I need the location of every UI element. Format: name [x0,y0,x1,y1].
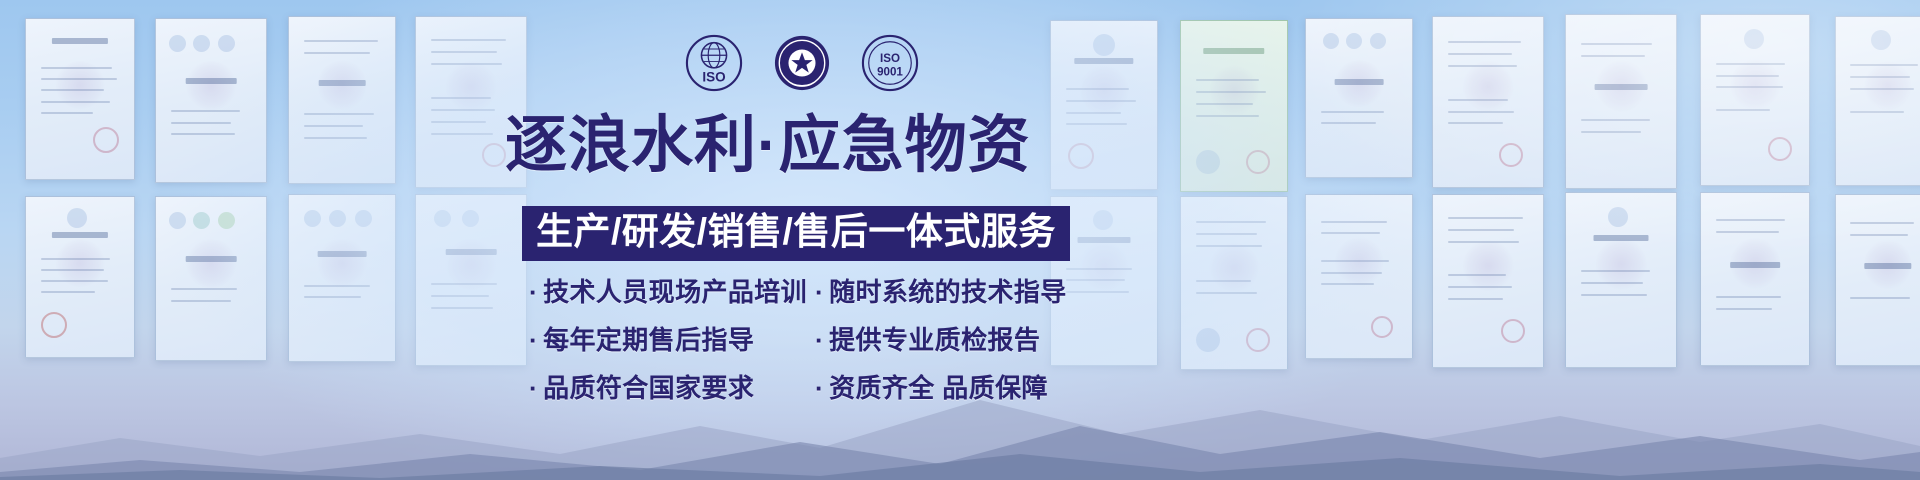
promo-banner: ISO ISO 9001 逐浪水利·应急物资 生产/研发/销售/售后一体式服务 [0,0,1920,480]
iso-9001-badge-line2: 9001 [877,66,903,79]
iso-9001-badge-line1: ISO [880,52,900,65]
feature-bullet: ·提供专业质检报告 [815,320,1085,357]
certificate-thumbnail [1565,14,1677,189]
banner-subtitle: 生产/研发/销售/售后一体式服务 [536,213,1056,252]
feature-bullet: ·每年定期售后指导 [529,320,815,357]
feature-bullet-label: 技术人员现场产品培训 [543,277,807,307]
iso-9001-badge: ISO 9001 [861,34,919,92]
certificate-thumbnail [1305,18,1413,178]
certificate-thumbnail [288,16,396,184]
feature-bullet: ·随时系统的技术指导 [815,272,1085,309]
feature-bullet-label: 随时系统的技术指导 [829,277,1067,307]
feature-bullet-label: 每年定期售后指导 [543,325,754,355]
feature-bullet-label: 提供专业质检报告 [829,325,1040,355]
feature-bullet: ·技术人员现场产品培训 [529,272,815,309]
bullet-marker-icon: · [815,325,824,355]
certificate-thumbnail [25,18,135,180]
certification-seal-badge [773,34,831,92]
bullet-marker-icon: · [529,277,538,307]
bullet-marker-icon: · [529,325,538,355]
certificate-thumbnail [1432,16,1544,188]
feature-bullet-label: 品质符合国家要求 [543,373,754,403]
feature-bullet-list: ·技术人员现场产品培训 ·随时系统的技术指导 ·每年定期售后指导 ·提供专业质检… [529,266,1085,410]
certificate-thumbnail [1835,16,1920,186]
certificate-thumbnail [1700,14,1810,186]
certificate-thumbnail [155,18,267,183]
certificate-thumbnail [1180,20,1288,192]
banner-subtitle-bar: 生产/研发/销售/售后一体式服务 [522,206,1070,261]
iso-badge-label: ISO [702,69,725,84]
bullet-marker-icon: · [815,373,824,403]
bullet-marker-icon: · [529,373,538,403]
iso-badge: ISO [685,34,743,92]
bullet-marker-icon: · [815,277,824,307]
feature-bullet: ·资质齐全 品质保障 [815,368,1085,405]
banner-headline: 逐浪水利·应急物资 [505,113,1085,179]
certification-badges: ISO ISO 9001 [685,34,919,92]
feature-bullet-label: 资质齐全 品质保障 [829,373,1048,403]
banner-content: ISO ISO 9001 逐浪水利·应急物资 生产/研发/销售/售后一体式服务 [505,20,1085,460]
feature-bullet: ·品质符合国家要求 [529,368,815,405]
